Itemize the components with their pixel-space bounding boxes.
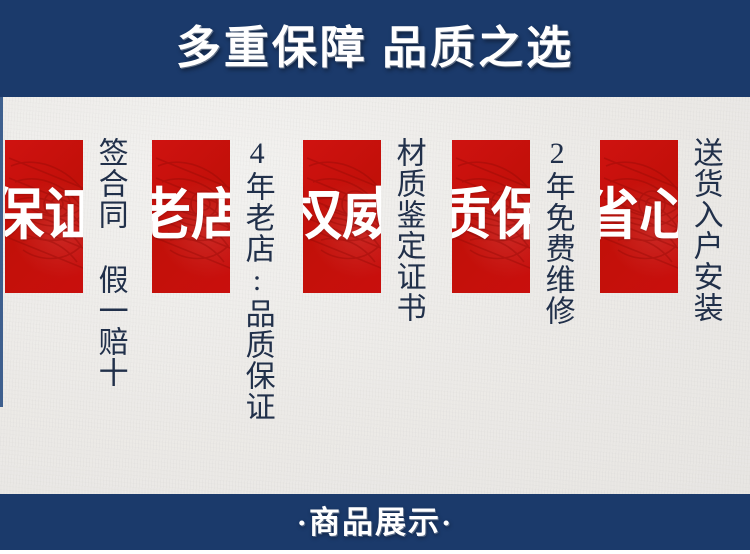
seal-label: 权威 [303,140,381,293]
guarantee-description: 2年免费维修 [538,137,575,467]
seal-stamp: 权威 [303,140,381,293]
footer-band: ·商品展示· [0,494,750,550]
guarantee-description: 4年老店:品质保证 [238,137,275,467]
guarantee-item: 权威 材质鉴定证书 [303,97,451,494]
promo-banner-page: 多重保障 品质之选 [0,0,750,554]
bottom-strip [0,550,750,554]
seal-label: 保证 [5,140,83,293]
seal-label: 省心 [600,140,678,293]
guarantee-item: 质保 2年免费维修 [452,97,597,494]
seal-stamp: 老店 [152,140,230,293]
seal-label: 老店 [152,140,230,293]
guarantee-item: 老店 4年老店:品质保证 [152,97,302,494]
seal-label: 质保 [452,140,530,293]
guarantee-item: 保证 签合同 假一赔十 [5,97,150,494]
seal-stamp: 质保 [452,140,530,293]
seal-stamp: 省心 [600,140,678,293]
seal-stamp: 保证 [5,140,83,293]
guarantee-item: 省心 送货入户安装 [600,97,750,494]
section-title: ·商品展示· [297,507,454,538]
guarantee-description: 送货入户安装 [686,137,723,467]
page-title: 多重保障 品质之选 [176,26,574,71]
guarantee-description: 材质鉴定证书 [389,137,426,467]
header-band: 多重保障 品质之选 [0,0,750,97]
guarantee-list: 保证 签合同 假一赔十 [0,97,750,494]
guarantee-description: 签合同 假一赔十 [91,137,128,467]
